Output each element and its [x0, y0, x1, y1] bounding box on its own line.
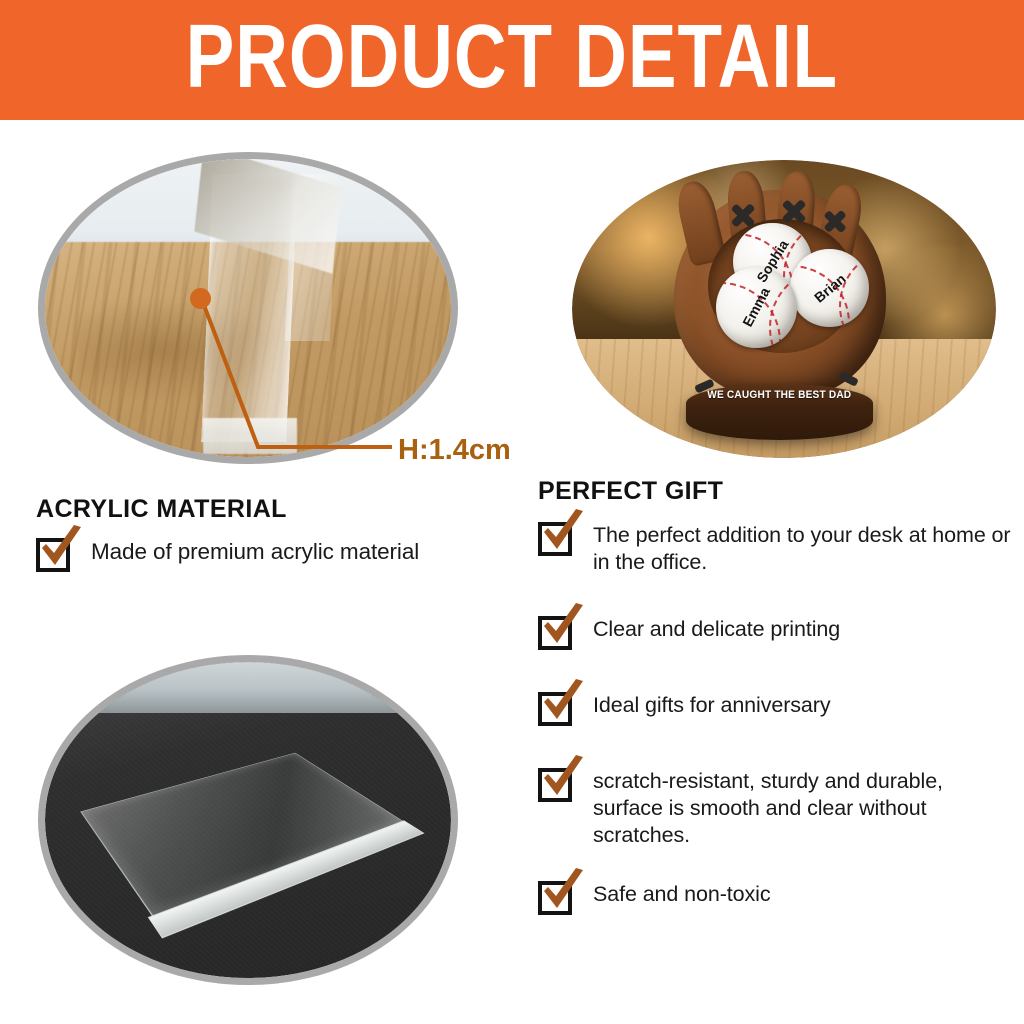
- checkbox[interactable]: [538, 692, 572, 726]
- bullet-item: scratch-resistant, sturdy and durable, s…: [538, 766, 1018, 850]
- baseball-glove-trophy-photo: Sophia Brian Emma WE CAUGHT THE BEST DAD: [572, 160, 996, 458]
- checkbox[interactable]: [538, 768, 572, 802]
- baseball-brian: Brian: [790, 249, 868, 326]
- baseball-seam: [839, 249, 869, 326]
- check-icon: [36, 525, 85, 572]
- header-banner: PRODUCT DETAIL: [0, 0, 1024, 120]
- acrylic-block-on-slate-photo: [38, 655, 458, 985]
- bullet-text: Clear and delicate printing: [593, 614, 840, 643]
- acrylic-edge-on-wood-photo: [38, 152, 458, 464]
- acrylic-edge-photo-inner: [45, 159, 451, 457]
- bullet-list-perfect-gift: The perfect addition to your desk at hom…: [538, 520, 1018, 915]
- bullet-item: Ideal gifts for anniversary: [538, 690, 1018, 726]
- checkbox[interactable]: [538, 522, 572, 556]
- section-heading-acrylic-material: ACRYLIC MATERIAL: [36, 495, 287, 524]
- bullet-item: The perfect addition to your desk at hom…: [538, 520, 1018, 577]
- bullet-item: Safe and non-toxic: [538, 879, 1018, 915]
- product-detail-infographic: PRODUCT DETAIL H:1.4cm: [0, 0, 1024, 1024]
- bullet-text: Safe and non-toxic: [593, 879, 771, 908]
- check-icon: [538, 603, 587, 650]
- checkbox[interactable]: [538, 616, 572, 650]
- check-icon: [538, 679, 587, 726]
- bullet-list-acrylic-material: Made of premium acrylic material: [36, 536, 516, 572]
- dimension-anchor-dot: [190, 288, 211, 309]
- bullet-text: The perfect addition to your desk at hom…: [593, 520, 1018, 577]
- trophy-wooden-base: WE CAUGHT THE BEST DAD: [686, 384, 873, 441]
- acrylic-bottom-edge: [203, 418, 296, 454]
- bullet-item: Clear and delicate printing: [538, 614, 1018, 650]
- acrylic-block-photo-inner: [45, 662, 451, 978]
- checkbox[interactable]: [538, 881, 572, 915]
- trophy-base-engraving: WE CAUGHT THE BEST DAD: [708, 389, 852, 401]
- bullet-text: scratch-resistant, sturdy and durable, s…: [593, 766, 1018, 850]
- baseball-seam: [769, 267, 796, 347]
- check-icon: [538, 509, 587, 556]
- page-title: PRODUCT DETAIL: [186, 13, 838, 107]
- glove-photo-inner: Sophia Brian Emma WE CAUGHT THE BEST DAD: [572, 160, 996, 458]
- bullet-text: Ideal gifts for anniversary: [593, 690, 831, 719]
- baseball-emma: Emma: [716, 267, 797, 347]
- check-icon: [538, 868, 587, 915]
- section-heading-perfect-gift: PERFECT GIFT: [538, 477, 723, 506]
- bullet-item: Made of premium acrylic material: [36, 536, 516, 572]
- checkbox[interactable]: [36, 538, 70, 572]
- height-dimension-label: H:1.4cm: [398, 434, 511, 467]
- check-icon: [538, 755, 587, 802]
- slate-backdrop-highlight: [45, 662, 451, 713]
- bullet-text: Made of premium acrylic material: [91, 536, 419, 567]
